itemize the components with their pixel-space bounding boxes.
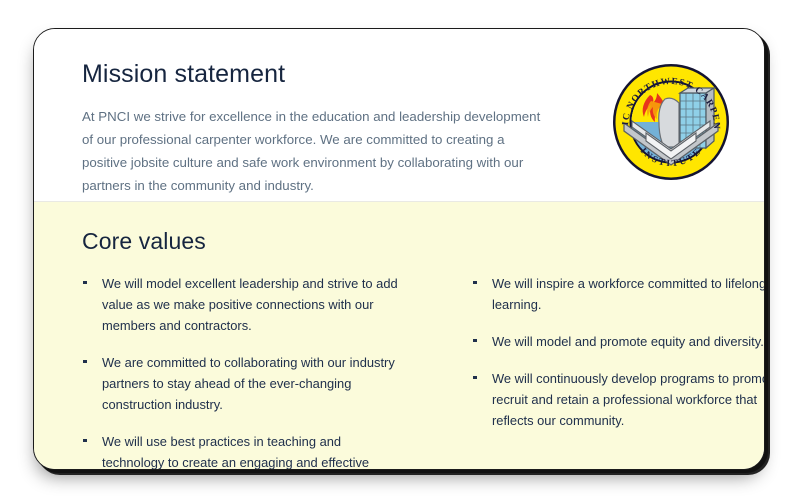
info-card: Mission statement At PNCI we strive for … bbox=[33, 28, 765, 470]
list-item: We are committed to collaborating with o… bbox=[82, 352, 402, 415]
core-values-columns: We will model excellent leadership and s… bbox=[82, 273, 724, 470]
core-values-section: Core values We will model excellent lead… bbox=[34, 202, 764, 470]
list-item: We will model excellent leadership and s… bbox=[82, 273, 402, 336]
list-item: We will model and promote equity and div… bbox=[472, 331, 765, 352]
core-values-list-left: We will model excellent leadership and s… bbox=[82, 273, 402, 470]
page-stage: Mission statement At PNCI we strive for … bbox=[0, 0, 800, 501]
list-item: We will continuously develop programs to… bbox=[472, 368, 765, 431]
mission-statement-section: Mission statement At PNCI we strive for … bbox=[34, 29, 764, 202]
list-item: We will use best practices in teaching a… bbox=[82, 431, 402, 470]
core-values-column-right: We will inspire a workforce committed to… bbox=[472, 273, 765, 470]
mission-statement-body: At PNCI we strive for excellence in the … bbox=[82, 106, 552, 197]
core-values-list-right: We will inspire a workforce committed to… bbox=[472, 273, 765, 431]
pncl-logo: PACIFIC NORTHWEST CARPENTERS INSTITUTE bbox=[610, 61, 732, 183]
core-values-title: Core values bbox=[82, 228, 724, 256]
list-item: We will inspire a workforce committed to… bbox=[472, 273, 765, 315]
core-values-column-left: We will model excellent leadership and s… bbox=[82, 273, 402, 470]
